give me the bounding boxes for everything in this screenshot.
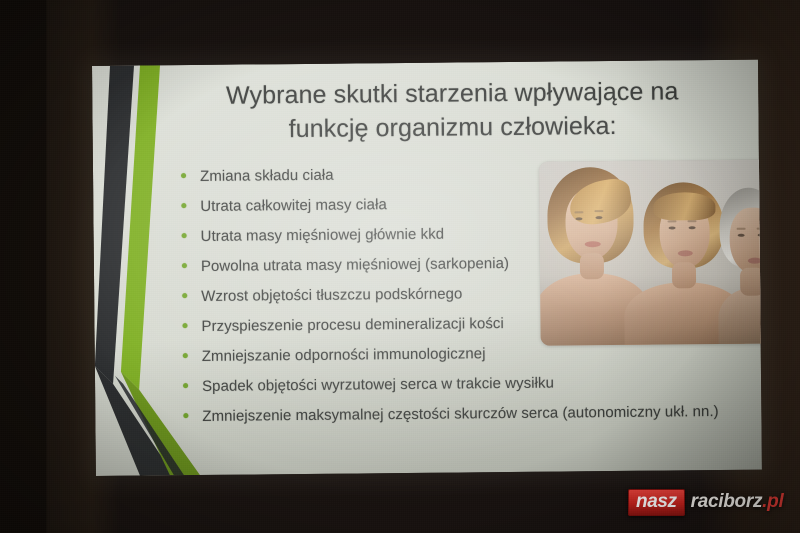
elderly-woman-figure — [719, 160, 762, 344]
eyebrow-right — [594, 210, 603, 212]
eye-left — [738, 234, 745, 237]
logo-site: raciborz.pl — [691, 492, 784, 512]
bullet-dot-icon — [183, 353, 188, 358]
eyebrow-left — [574, 211, 583, 213]
list-item-label: Zmniejszanie odporności immunologicznej — [202, 345, 486, 365]
title-line-2: funkcję organizmu człowieka: — [172, 108, 732, 147]
list-item-label: Wzrost objętości tłuszczu podskórnego — [201, 285, 462, 305]
list-item-label: Zmiana składu ciała — [200, 166, 334, 184]
bullet-dot-icon — [181, 173, 186, 178]
bullet-dot-icon — [181, 203, 186, 208]
neck — [672, 262, 696, 288]
eyebrow-left — [668, 220, 677, 222]
bullet-dot-icon — [183, 383, 188, 388]
logo-badge: nasz — [628, 489, 685, 516]
bullet-dot-icon — [182, 263, 187, 268]
eyebrow-left — [737, 228, 746, 230]
list-item-label: Utrata całkowitej masy ciała — [200, 196, 387, 215]
eyebrow-right — [688, 220, 697, 222]
list-item-label: Powolna utrata masy mięśniowej (sarkopen… — [201, 255, 509, 275]
fringe — [653, 192, 715, 221]
list-item-label: Spadek objętości wyrzutowej serca w trak… — [202, 374, 554, 394]
three-women-ages-photo — [539, 160, 762, 346]
middle-aged-woman-figure — [637, 160, 731, 345]
neck — [740, 268, 762, 296]
bullet-dot-icon — [182, 233, 187, 238]
logo-tld: .pl — [762, 491, 783, 512]
list-item-label: Zmniejszenie maksymalnej częstości skurc… — [202, 403, 718, 425]
neck — [580, 253, 604, 279]
bullet-dot-icon — [183, 413, 188, 418]
list-item-label: Przyspieszenie procesu demineralizacji k… — [201, 315, 503, 335]
slide-surface: Wybrane skutki starzenia wpływające na f… — [92, 60, 762, 476]
watermark-logo: nasz raciborz.pl — [628, 489, 783, 515]
list-item: Zmniejszenie maksymalnej częstości skurc… — [183, 396, 758, 432]
list-item-label: Utrata masy mięśniowej głównie kkd — [201, 225, 445, 244]
projected-slide: Wybrane skutki starzenia wpływające na f… — [92, 60, 762, 476]
bullet-dot-icon — [182, 323, 187, 328]
title-line-1: Wybrane skutki starzenia wpływające na — [172, 74, 732, 113]
logo-site-name: raciborz — [691, 491, 763, 512]
bullet-dot-icon — [182, 293, 187, 298]
page-title: Wybrane skutki starzenia wpływające na f… — [172, 74, 733, 147]
eye-left — [669, 226, 676, 229]
eye-left — [575, 217, 582, 220]
shoulders — [718, 287, 762, 345]
eye-right — [689, 226, 696, 229]
